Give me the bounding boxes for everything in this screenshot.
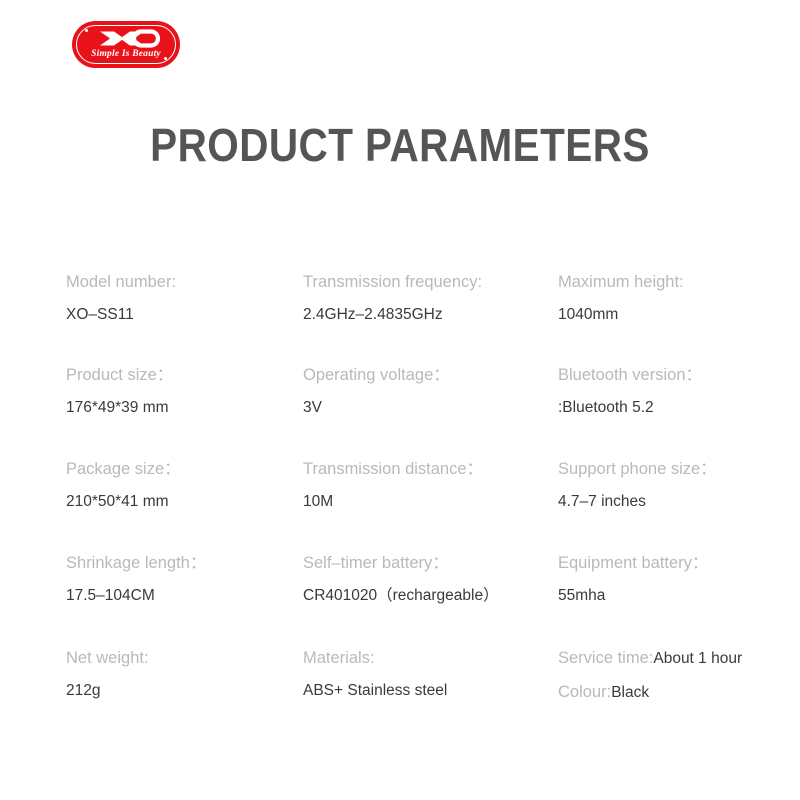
spec-label: Maximum height:: [558, 272, 773, 292]
spec-value: CR401020（rechargeable）: [303, 586, 553, 606]
xo-wordmark-icon: [72, 26, 180, 51]
spec-label: Colour:: [558, 683, 611, 701]
page-title: PRODUCT PARAMETERS: [48, 118, 752, 172]
spec-label: Transmission distance：: [303, 459, 553, 479]
spec-row-bluetooth-version: Bluetooth version： :Bluetooth 5.2: [558, 365, 773, 418]
spec-label: Net weight:: [66, 648, 296, 668]
spec-label: Self–timer battery：: [303, 553, 553, 573]
spec-value: Black: [611, 684, 649, 701]
spec-value: XO–SS11: [66, 305, 296, 325]
spec-label: Materials:: [303, 648, 553, 668]
spec-row-product-size: Product size： 176*49*39 mm: [66, 365, 296, 418]
spec-row-operating-voltage: Operating voltage： 3V: [303, 365, 553, 418]
spec-row-maximum-height: Maximum height: 1040mm: [558, 272, 773, 325]
spec-row-shrinkage-length: Shrinkage length： 17.5–104CM: [66, 553, 296, 606]
spec-value: 1040mm: [558, 305, 773, 325]
spec-label: Shrinkage length：: [66, 553, 296, 573]
spec-row-support-phone-size: Support phone size： 4.7–7 inches: [558, 459, 773, 512]
spec-value: 3V: [303, 398, 553, 418]
spec-value: 176*49*39 mm: [66, 398, 296, 418]
spec-label: Model number:: [66, 272, 296, 292]
spec-row-colour: Colour:Black: [558, 682, 773, 703]
spec-label: Transmission frequency:: [303, 272, 553, 292]
brand-logo: Simple Is Beauty: [72, 21, 180, 68]
spec-label: Service time:: [558, 649, 653, 667]
spec-label: Operating voltage：: [303, 365, 553, 385]
spec-value: 4.7–7 inches: [558, 492, 773, 512]
spec-row-package-size: Package size： 210*50*41 mm: [66, 459, 296, 512]
spec-row-net-weight: Net weight: 212g: [66, 648, 296, 701]
spec-value: 212g: [66, 681, 296, 701]
spec-value: 55mha: [558, 586, 773, 606]
logo-tagline: Simple Is Beauty: [72, 49, 180, 59]
spec-value: 2.4GHz–2.4835GHz: [303, 305, 553, 325]
spec-label: Equipment battery：: [558, 553, 773, 573]
spec-row-transmission-distance: Transmission distance： 10M: [303, 459, 553, 512]
spec-row-materials: Materials: ABS+ Stainless steel: [303, 648, 553, 701]
spec-row-transmission-frequency: Transmission frequency: 2.4GHz–2.4835GHz: [303, 272, 553, 325]
spec-label: Support phone size：: [558, 459, 773, 479]
spec-value: 10M: [303, 492, 553, 512]
spec-label: Package size：: [66, 459, 296, 479]
spec-value: 210*50*41 mm: [66, 492, 296, 512]
spec-value: 17.5–104CM: [66, 586, 296, 606]
logo-badge: Simple Is Beauty: [72, 21, 180, 68]
spec-label: Bluetooth version：: [558, 365, 773, 385]
spec-value: ABS+ Stainless steel: [303, 681, 553, 701]
spec-row-service-time: Service time:About 1 hour: [558, 648, 773, 669]
spec-label: Product size：: [66, 365, 296, 385]
spec-value: :Bluetooth 5.2: [558, 398, 773, 418]
spec-value: About 1 hour: [653, 650, 742, 667]
spec-row-equipment-battery: Equipment battery： 55mha: [558, 553, 773, 606]
spec-row-self-timer-battery: Self–timer battery： CR401020（rechargeabl…: [303, 553, 553, 606]
spec-row-model-number: Model number: XO–SS11: [66, 272, 296, 325]
